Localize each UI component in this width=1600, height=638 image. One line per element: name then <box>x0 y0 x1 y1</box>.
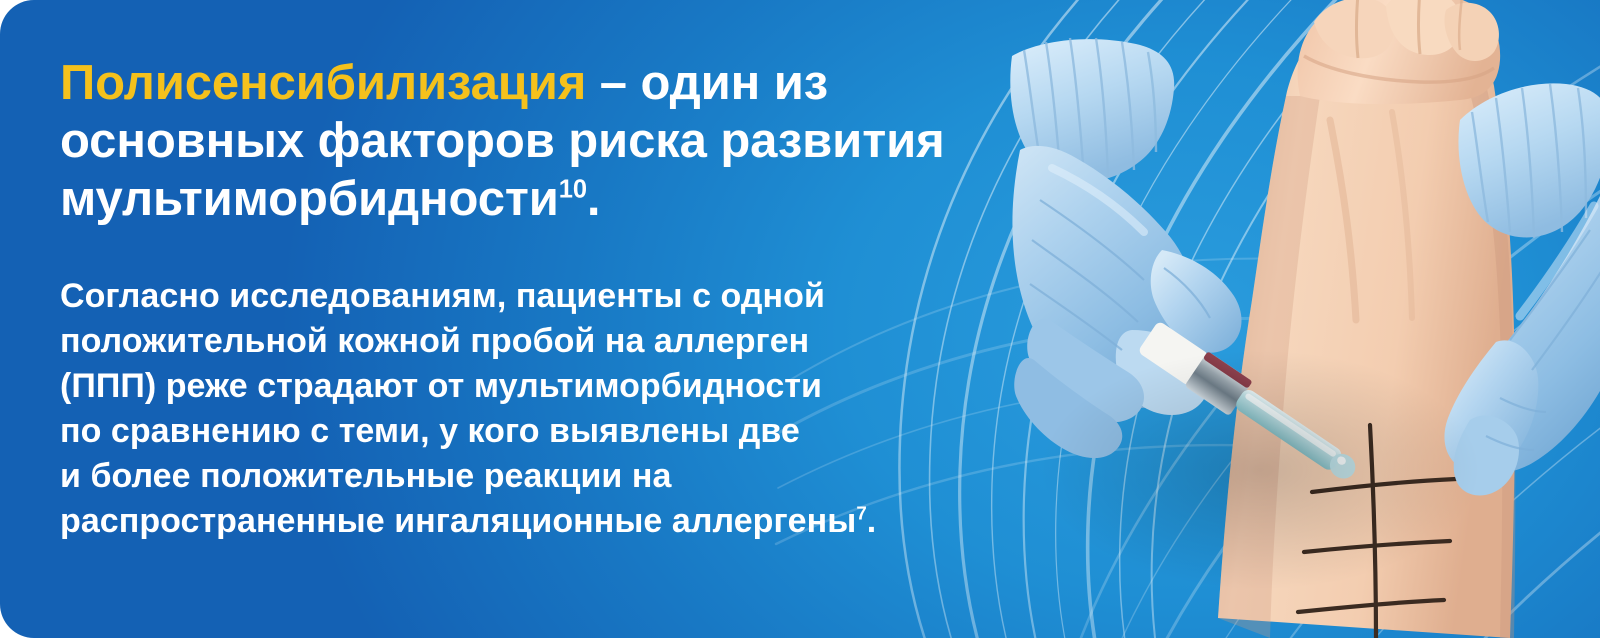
headline: Полисенсибилизация – один из основных фа… <box>60 54 1040 228</box>
body-footnote-marker: 7 <box>856 503 866 524</box>
headline-line1-rest: – один из <box>586 56 828 110</box>
body-line-4: по сравнению с теми, у кого выявлены две <box>60 412 800 450</box>
body-line-6: распространенные ингаляционные аллергены <box>60 502 856 540</box>
body-text: Согласно исследованиям, пациенты с одной… <box>60 274 1060 544</box>
headline-line3: мультиморбидности <box>60 172 559 226</box>
headline-footnote-marker: 10 <box>559 176 587 204</box>
allergy-info-banner: Полисенсибилизация – один из основных фа… <box>0 0 1600 638</box>
body-period: . <box>867 502 877 540</box>
headline-line2: основных факторов риска развития <box>60 114 945 168</box>
body-line-2: положительной кожной пробой на аллерген <box>60 322 809 360</box>
body-line-1: Согласно исследованиям, пациенты с одной <box>60 277 825 315</box>
text-content: Полисенсибилизация – один из основных фа… <box>60 0 1060 638</box>
headline-accent-word: Полисенсибилизация <box>60 56 586 110</box>
headline-period: . <box>587 172 601 226</box>
body-line-5: и более положительные реакции на <box>60 457 671 495</box>
patient-fist <box>1298 0 1501 104</box>
body-line-3: (ППП) реже страдают от мультиморбидности <box>60 367 822 405</box>
